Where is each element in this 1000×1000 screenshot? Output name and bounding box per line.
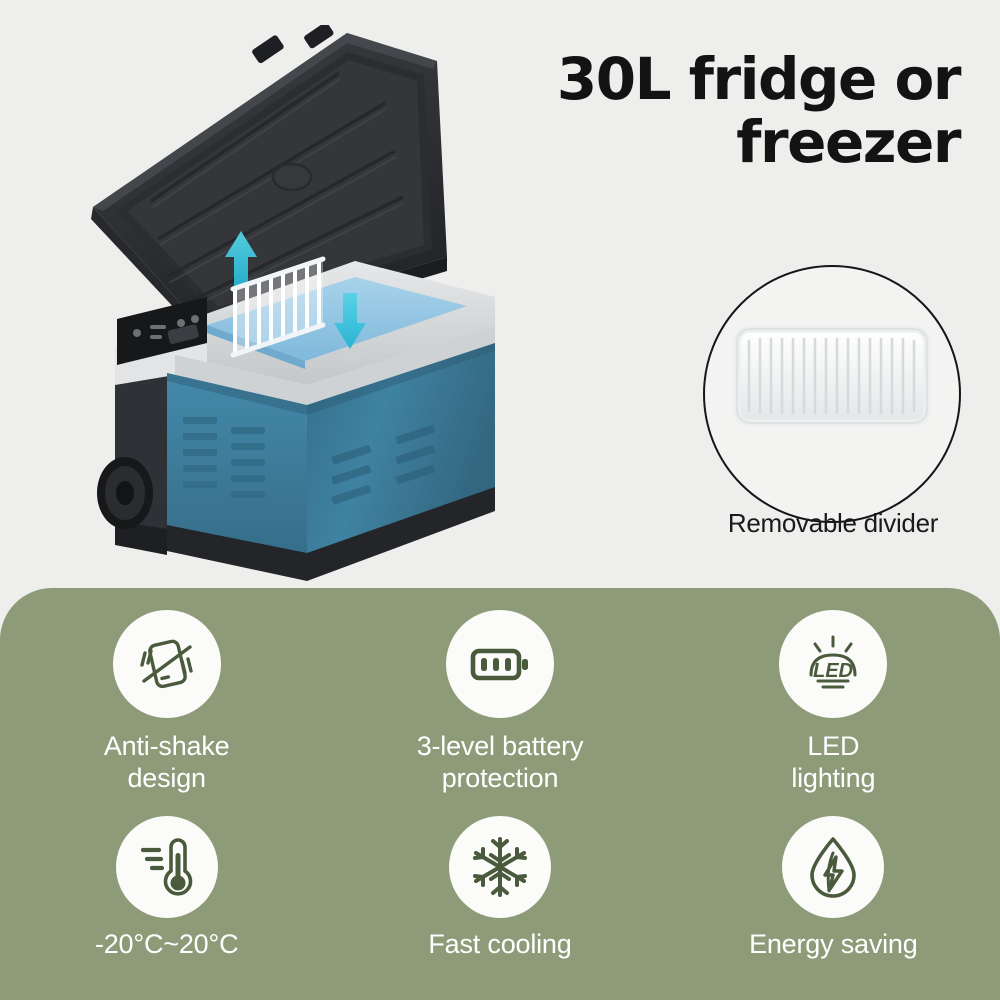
- energy-drop-icon: [799, 833, 867, 901]
- feature-label: Energy saving: [749, 929, 918, 961]
- feature-battery: 3-level battery protection: [333, 610, 666, 795]
- led-icon: LED: [798, 629, 868, 699]
- divider-circle: [703, 265, 961, 523]
- feature-label: 3-level battery protection: [417, 731, 584, 795]
- divider-callout: Removable divider: [703, 265, 973, 555]
- energy-drop-icon-circle: [782, 816, 884, 918]
- headline-line-2: freezer: [490, 111, 960, 174]
- anti-shake-icon: [132, 629, 202, 699]
- feature-label: -20°C~20°C: [95, 929, 238, 961]
- feature-energy-saving: Energy saving: [667, 816, 1000, 961]
- battery-icon-circle: [446, 610, 554, 718]
- features-panel: Anti-shake design 3-level battery protec…: [0, 588, 1000, 1000]
- feature-row-1: Anti-shake design 3-level battery protec…: [0, 610, 1000, 795]
- headline-line-1: 30L fridge or: [557, 45, 960, 113]
- snowflake-icon: [466, 833, 534, 901]
- feature-label: Fast cooling: [428, 929, 571, 961]
- snowflake-icon-circle: [449, 816, 551, 918]
- feature-label: Anti-shake design: [104, 731, 230, 795]
- feature-anti-shake: Anti-shake design: [0, 610, 333, 795]
- divider-caption: Removable divider: [683, 508, 983, 539]
- battery-icon: [465, 629, 535, 699]
- feature-led: LED LED lighting: [667, 610, 1000, 795]
- led-icon-circle: LED: [779, 610, 887, 718]
- feature-temperature: -20°C~20°C: [0, 816, 333, 961]
- wire-rack-divider-icon: [705, 267, 959, 521]
- anti-shake-icon-circle: [113, 610, 221, 718]
- thermometer-icon-circle: [116, 816, 218, 918]
- feature-fast-cooling: Fast cooling: [333, 816, 666, 961]
- feature-label: LED lighting: [791, 731, 875, 795]
- svg-text:LED: LED: [813, 660, 853, 682]
- feature-row-2: -20°C~20°C: [0, 816, 1000, 961]
- page-title: 30L fridge or freezer: [490, 48, 960, 173]
- hero-section: 30L fridge or freezer: [0, 0, 1000, 590]
- wheel: [97, 457, 153, 529]
- thermometer-icon: [133, 833, 201, 901]
